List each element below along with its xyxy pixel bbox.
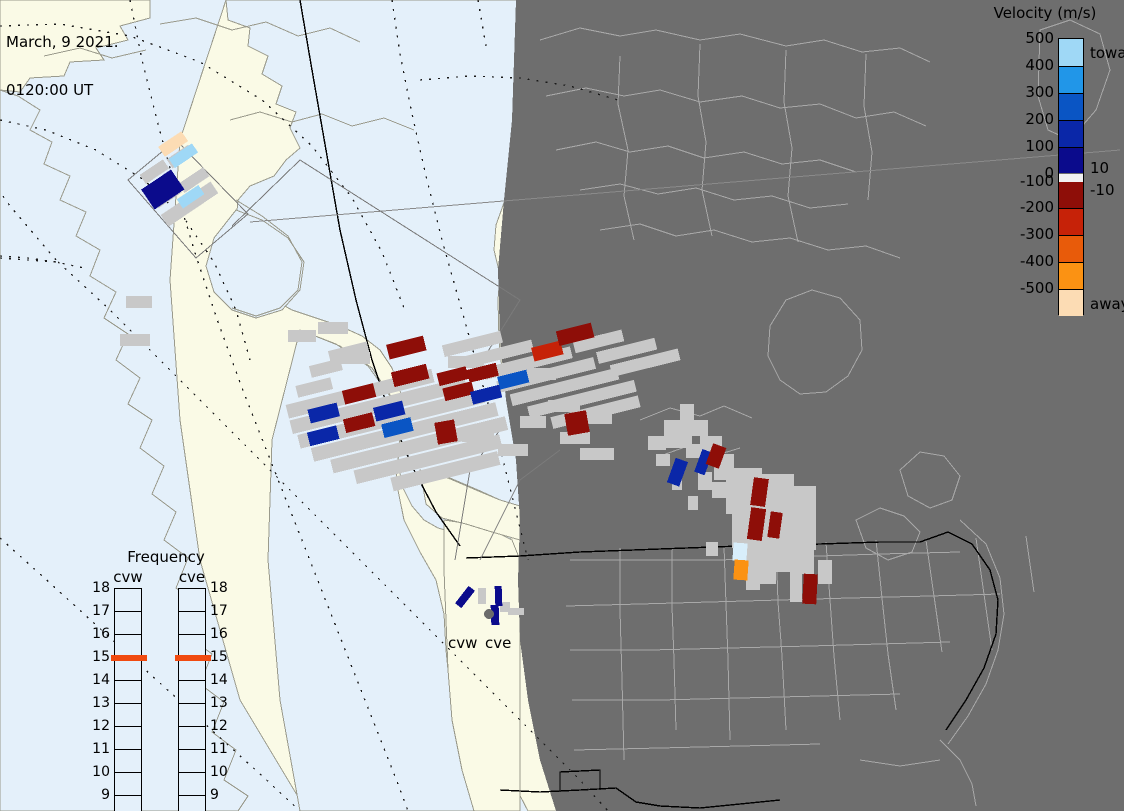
colorbar-separator	[1059, 120, 1083, 121]
velocity-cell	[434, 419, 458, 444]
frequency-cell	[179, 658, 205, 681]
colorbar-away-label: away	[1090, 297, 1124, 312]
colorbar-separator	[1059, 147, 1083, 148]
frequency-column-header-cve: cve	[170, 568, 214, 586]
colorbar-segment	[1059, 147, 1083, 174]
frequency-cell	[115, 727, 141, 750]
frequency-tick-label: 11	[88, 742, 110, 756]
colorbar-separator	[1059, 289, 1083, 290]
frequency-cell	[115, 681, 141, 704]
timestamp-date: March, 9 2021.	[6, 34, 119, 50]
frequency-cell	[115, 658, 141, 681]
frequency-tick-label: 17	[88, 604, 110, 618]
frequency-tick-label: 18	[88, 581, 110, 595]
colorbar-separator	[1059, 208, 1083, 209]
frequency-cell	[115, 796, 141, 811]
velocity-cell	[732, 543, 747, 562]
frequency-tick-label: 11	[210, 742, 232, 756]
velocity-cell	[495, 586, 503, 606]
frequency-tick-label: 16	[88, 627, 110, 641]
colorbar-tick-label: -200	[1000, 200, 1054, 215]
site-label-cvw: cvw	[448, 634, 477, 652]
radar-map-application: March, 9 2021. 0120:00 UT cvw cve Veloci…	[0, 0, 1124, 811]
colorbar-tick-label: 200	[1000, 112, 1054, 127]
colorbar-segment	[1059, 93, 1083, 120]
frequency-cell	[179, 681, 205, 704]
frequency-tick-label: 14	[210, 673, 232, 687]
frequency-cell	[179, 727, 205, 750]
frequency-tick-label: 12	[210, 719, 232, 733]
frequency-tick-label: 13	[88, 696, 110, 710]
frequency-tick-label: 14	[88, 673, 110, 687]
timestamp-time: 0120:00 UT	[6, 82, 119, 98]
colorbar-tick-label: -100	[1000, 174, 1054, 189]
timestamp-label: March, 9 2021. 0120:00 UT	[6, 2, 119, 130]
colorbar-segment	[1059, 289, 1083, 316]
colorbar-separator	[1059, 235, 1083, 236]
colorbar-threshold-positive-label: 10	[1090, 161, 1109, 176]
frequency-cell	[115, 612, 141, 635]
colorbar-tick-label: 500	[1000, 31, 1054, 46]
velocity-cell	[564, 410, 589, 435]
frequency-tick-label: 10	[210, 765, 232, 779]
frequency-bar-cve[interactable]	[178, 588, 206, 811]
frequency-tick-label: 16	[210, 627, 232, 641]
colorbar-tick-label: 300	[1000, 85, 1054, 100]
frequency-legend-panel: Frequency cvw cve 18171615141312111098 1…	[92, 548, 237, 788]
frequency-tick-label: 17	[210, 604, 232, 618]
colorbar-segment	[1059, 182, 1083, 209]
frequency-cell	[115, 704, 141, 727]
colorbar-segment	[1059, 39, 1083, 66]
colorbar-segment	[1059, 235, 1083, 262]
frequency-column-header-cvw: cvw	[106, 568, 150, 586]
site-label-cve: cve	[485, 634, 511, 652]
colorbar-separator	[1059, 93, 1083, 94]
frequency-marker	[111, 655, 147, 661]
colorbar-tick-label: 400	[1000, 58, 1054, 73]
frequency-bar-cvw[interactable]	[114, 588, 142, 811]
colorbar-separator	[1059, 262, 1083, 263]
frequency-cell	[179, 612, 205, 635]
colorbar-separator	[1059, 66, 1083, 67]
colorbar-title: Velocity (m/s)	[970, 4, 1120, 22]
colorbar-segment	[1059, 262, 1083, 289]
velocity-cell	[802, 574, 818, 605]
frequency-cell	[179, 589, 205, 612]
frequency-tick-label: 18	[210, 581, 232, 595]
frequency-cell	[179, 796, 205, 811]
frequency-cell	[115, 773, 141, 796]
colorbar-tick-label: 100	[1000, 139, 1054, 154]
colorbar-segment	[1059, 66, 1083, 93]
frequency-cell	[179, 773, 205, 796]
frequency-tick-label: 13	[210, 696, 232, 710]
frequency-tick-label: 10	[88, 765, 110, 779]
colorbar-tick-label: -500	[1000, 281, 1054, 296]
frequency-cell	[179, 704, 205, 727]
frequency-tick-label: 9	[88, 788, 110, 802]
radar-site-marker	[484, 609, 494, 619]
frequency-cell	[115, 750, 141, 773]
colorbar-segment	[1059, 120, 1083, 147]
frequency-cell	[179, 750, 205, 773]
frequency-tick-label: 15	[210, 650, 232, 664]
frequency-tick-label: 9	[210, 788, 232, 802]
frequency-marker	[175, 655, 211, 661]
velocity-cell	[733, 560, 748, 581]
colorbar-tick-label: -400	[1000, 254, 1054, 269]
colorbar-threshold-negative-label: -10	[1090, 183, 1115, 198]
frequency-legend-title: Frequency	[102, 548, 230, 566]
colorbar-tick-label: -300	[1000, 227, 1054, 242]
colorbar-segment	[1059, 174, 1083, 182]
colorbar-toward-label: toward	[1090, 46, 1124, 61]
frequency-tick-label: 15	[88, 650, 110, 664]
frequency-tick-label: 12	[88, 719, 110, 733]
velocity-colorbar	[1058, 38, 1084, 315]
frequency-cell	[115, 589, 141, 612]
colorbar-segment	[1059, 208, 1083, 235]
